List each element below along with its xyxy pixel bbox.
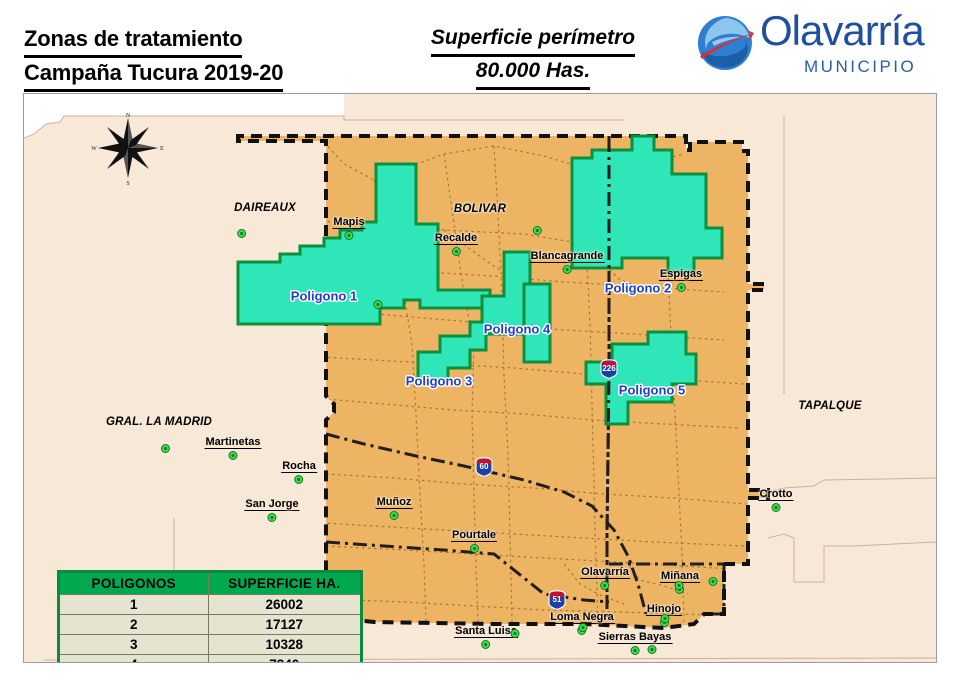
olavarria-logo: Olavarría MUNICIPIO: [694, 8, 944, 84]
compass-s-label: S: [126, 181, 129, 186]
subtitle: Superficie perímetro 80.000 Has.: [388, 24, 678, 90]
title-line-1: Zonas de tratamiento: [24, 24, 242, 58]
compass-w-label: W: [91, 146, 97, 152]
title-line-2: Campaña Tucura 2019-20: [24, 58, 283, 92]
table-row: 126002: [59, 594, 361, 614]
cell-poligono: 3: [59, 634, 208, 654]
table-row: 47340: [59, 654, 361, 663]
polygon-4[interactable]: [524, 284, 550, 362]
subtitle-line-2: 80.000 Has.: [476, 57, 590, 90]
table-body: 12600221712731032847340519203TOTAL80000: [59, 594, 361, 663]
page-title: Zonas de tratamiento Campaña Tucura 2019…: [24, 24, 283, 92]
table-header-row: POLIGONOS SUPERFICIE HA.: [59, 572, 361, 594]
table-row: 310328: [59, 634, 361, 654]
cell-poligono: 4: [59, 654, 208, 663]
logo-wordmark: Olavarría: [760, 10, 924, 52]
olavarria-logo-icon: [694, 12, 756, 74]
compass-n-label: N: [126, 113, 131, 119]
compass-e-label: E: [160, 146, 164, 152]
poster-header: Zonas de tratamiento Campaña Tucura 2019…: [0, 0, 960, 93]
table-header-superficie: SUPERFICIE HA.: [208, 572, 361, 594]
logo-subtitle: MUNICIPIO: [804, 57, 916, 77]
compass-rose: N S E W: [90, 106, 166, 186]
surface-table[interactable]: POLIGONOS SUPERFICIE HA. 126002217127310…: [58, 571, 362, 663]
subtitle-line-1: Superficie perímetro: [431, 24, 635, 57]
table-row: 217127: [59, 614, 361, 634]
map-poster: Zonas de tratamiento Campaña Tucura 2019…: [0, 0, 960, 678]
cell-superficie: 7340: [208, 654, 361, 663]
table-header-poligonos: POLIGONOS: [59, 572, 208, 594]
cell-superficie: 10328: [208, 634, 361, 654]
cell-poligono: 1: [59, 594, 208, 614]
map-frame[interactable]: N S E W DAIREAUXBOLIVARTAPALQUEGRAL. LA …: [23, 93, 937, 663]
cell-poligono: 2: [59, 614, 208, 634]
cell-superficie: 17127: [208, 614, 361, 634]
cell-superficie: 26002: [208, 594, 361, 614]
